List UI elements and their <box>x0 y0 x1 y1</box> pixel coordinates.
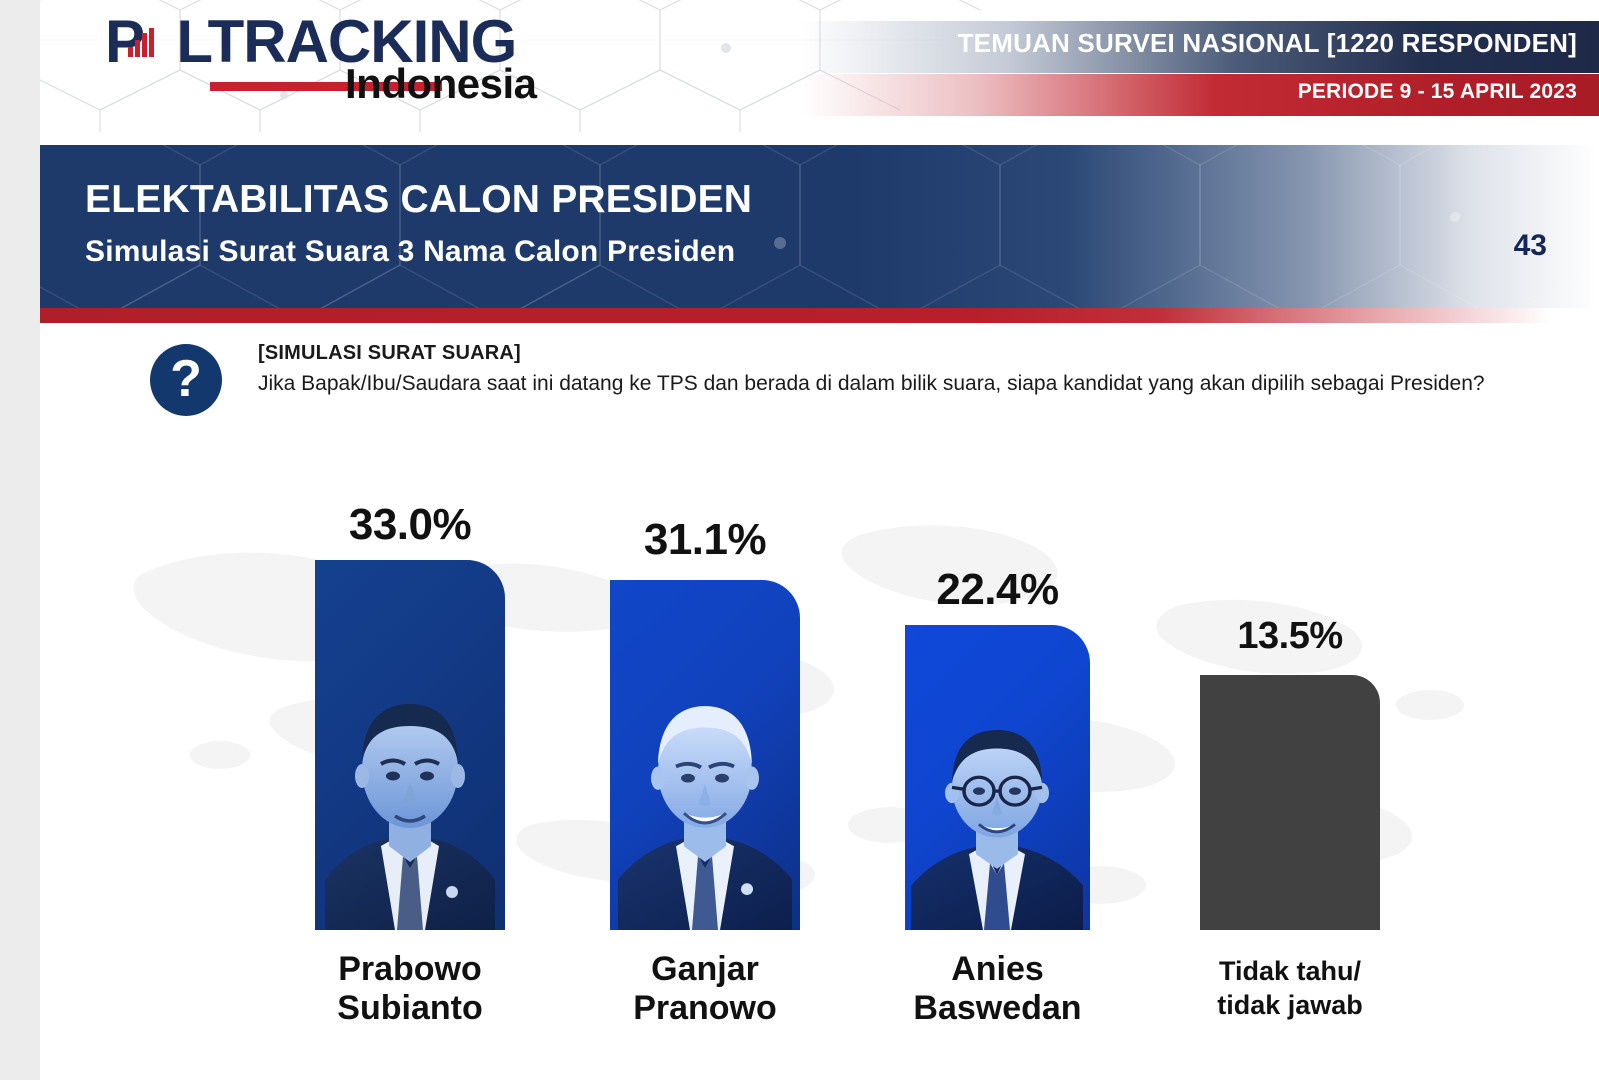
bar-label-tidak-tahu-line2: tidak jawab <box>1170 989 1410 1023</box>
prabowo-portrait <box>315 630 505 930</box>
bar-label-tidak-tahu: Tidak tahu/ tidak jawab <box>1170 955 1410 1023</box>
bar-value-ganjar: 31.1% <box>610 515 800 565</box>
page-title: ELEKTABILITAS CALON PRESIDEN <box>85 178 752 222</box>
bar-label-prabowo: Prabowo Subianto <box>285 950 535 1029</box>
question-body: Jika Bapak/Ibu/Saudara saat ini datang k… <box>258 369 1513 399</box>
bar-value-anies: 22.4% <box>905 565 1090 615</box>
page-number: 43 <box>1514 229 1547 263</box>
title-banner: ELEKTABILITAS CALON PRESIDEN Simulasi Su… <box>40 145 1599 308</box>
page-subtitle: Simulasi Surat Suara 3 Nama Calon Presid… <box>85 235 735 269</box>
survey-period: PERIODE 9 - 15 APRIL 2023 <box>1298 80 1577 104</box>
logo-o-letter: P_ <box>105 12 176 72</box>
survey-title: TEMUAN SURVEI NASIONAL [1220 RESPONDEN] <box>958 28 1577 59</box>
bar-group-ganjar: 31.1% <box>610 455 800 1075</box>
elektabilitas-bar-chart: 33.0% <box>40 455 1599 1075</box>
bar-label-ganjar: Ganjar Pranowo <box>580 950 830 1029</box>
bar-value-prabowo: 33.0% <box>315 500 505 550</box>
bar-label-ganjar-line2: Pranowo <box>580 989 830 1028</box>
bar-chart-icon <box>128 29 154 57</box>
bar-group-prabowo: 33.0% <box>315 455 505 1075</box>
bar-group-anies: 22.4% <box>905 455 1090 1075</box>
bar-prabowo[interactable] <box>315 560 505 930</box>
bar-anies[interactable] <box>905 625 1090 930</box>
anies-portrait <box>905 680 1090 930</box>
bar-label-anies-line1: Anies <box>875 950 1120 989</box>
banner-red-rule <box>40 308 1599 323</box>
question-label: [SIMULASI SURAT SUARA] <box>258 342 1558 365</box>
slide: P_ LTRACKING Indonesia TEMUAN SURVEI NAS… <box>40 0 1599 1080</box>
question-block: ? [SIMULASI SURAT SUARA] Jika Bapak/Ibu/… <box>150 342 1570 442</box>
ganjar-portrait <box>610 638 800 930</box>
poltracking-logo: P_ LTRACKING Indonesia <box>105 10 625 120</box>
bar-label-anies-line2: Baswedan <box>875 989 1120 1028</box>
bar-label-prabowo-line2: Subianto <box>285 989 535 1028</box>
bar-label-ganjar-line1: Ganjar <box>580 950 830 989</box>
question-mark-icon: ? <box>150 344 222 416</box>
banner-hexagon-pattern-icon <box>40 145 1599 308</box>
bar-group-tidak-tahu: 13.5% Tidak tahu/ tidak jawab <box>1200 455 1380 1075</box>
slide-header: P_ LTRACKING Indonesia TEMUAN SURVEI NAS… <box>40 0 1599 132</box>
bar-label-anies: Anies Baswedan <box>875 950 1120 1029</box>
bar-ganjar[interactable] <box>610 580 800 930</box>
question-text-group: [SIMULASI SURAT SUARA] Jika Bapak/Ibu/Sa… <box>258 342 1558 399</box>
bar-tidak-tahu[interactable] <box>1200 675 1380 930</box>
bar-label-prabowo-line1: Prabowo <box>285 950 535 989</box>
logo-subtext: Indonesia <box>345 60 537 108</box>
bar-label-tidak-tahu-line1: Tidak tahu/ <box>1170 955 1410 989</box>
bar-value-tidak-tahu: 13.5% <box>1200 615 1380 658</box>
